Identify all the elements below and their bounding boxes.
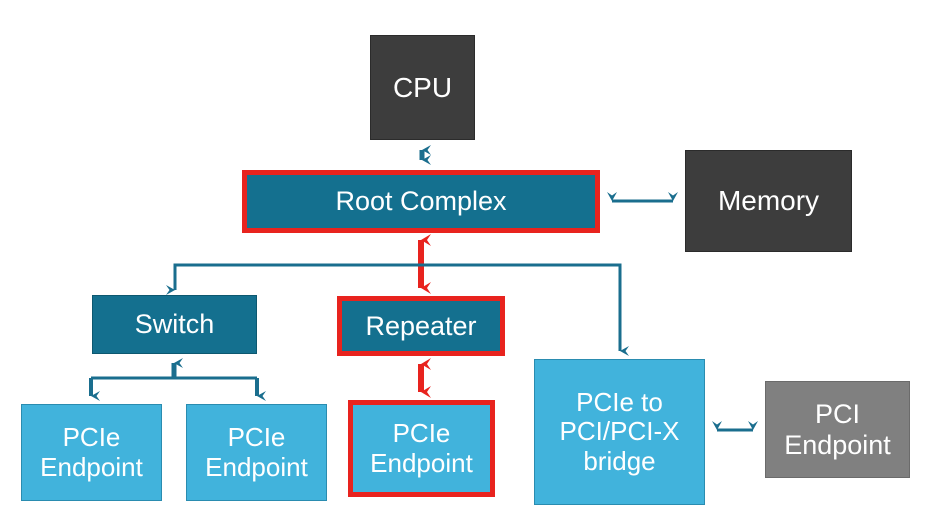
node-pci-endpoint[interactable]: PCI Endpoint xyxy=(765,381,910,478)
node-pcie-endpoint-left[interactable]: PCIe Endpoint xyxy=(21,404,162,501)
node-pcie-endpoint-middle[interactable]: PCIe Endpoint xyxy=(186,404,327,501)
node-root-complex[interactable]: Root Complex xyxy=(242,170,600,233)
node-memory[interactable]: Memory xyxy=(685,150,852,252)
pcie-topology-diagram: CPU Root Complex Memory Switch Repeater … xyxy=(0,0,932,521)
node-switch[interactable]: Switch xyxy=(92,295,257,354)
connector-switch-endpoints xyxy=(91,363,257,396)
node-pcie-endpoint-repeater[interactable]: PCIe Endpoint xyxy=(348,400,495,497)
node-pcie-to-pci-bridge[interactable]: PCIe to PCI/PCI-X bridge xyxy=(534,359,705,505)
node-cpu[interactable]: CPU xyxy=(370,35,475,140)
node-repeater[interactable]: Repeater xyxy=(337,296,505,356)
